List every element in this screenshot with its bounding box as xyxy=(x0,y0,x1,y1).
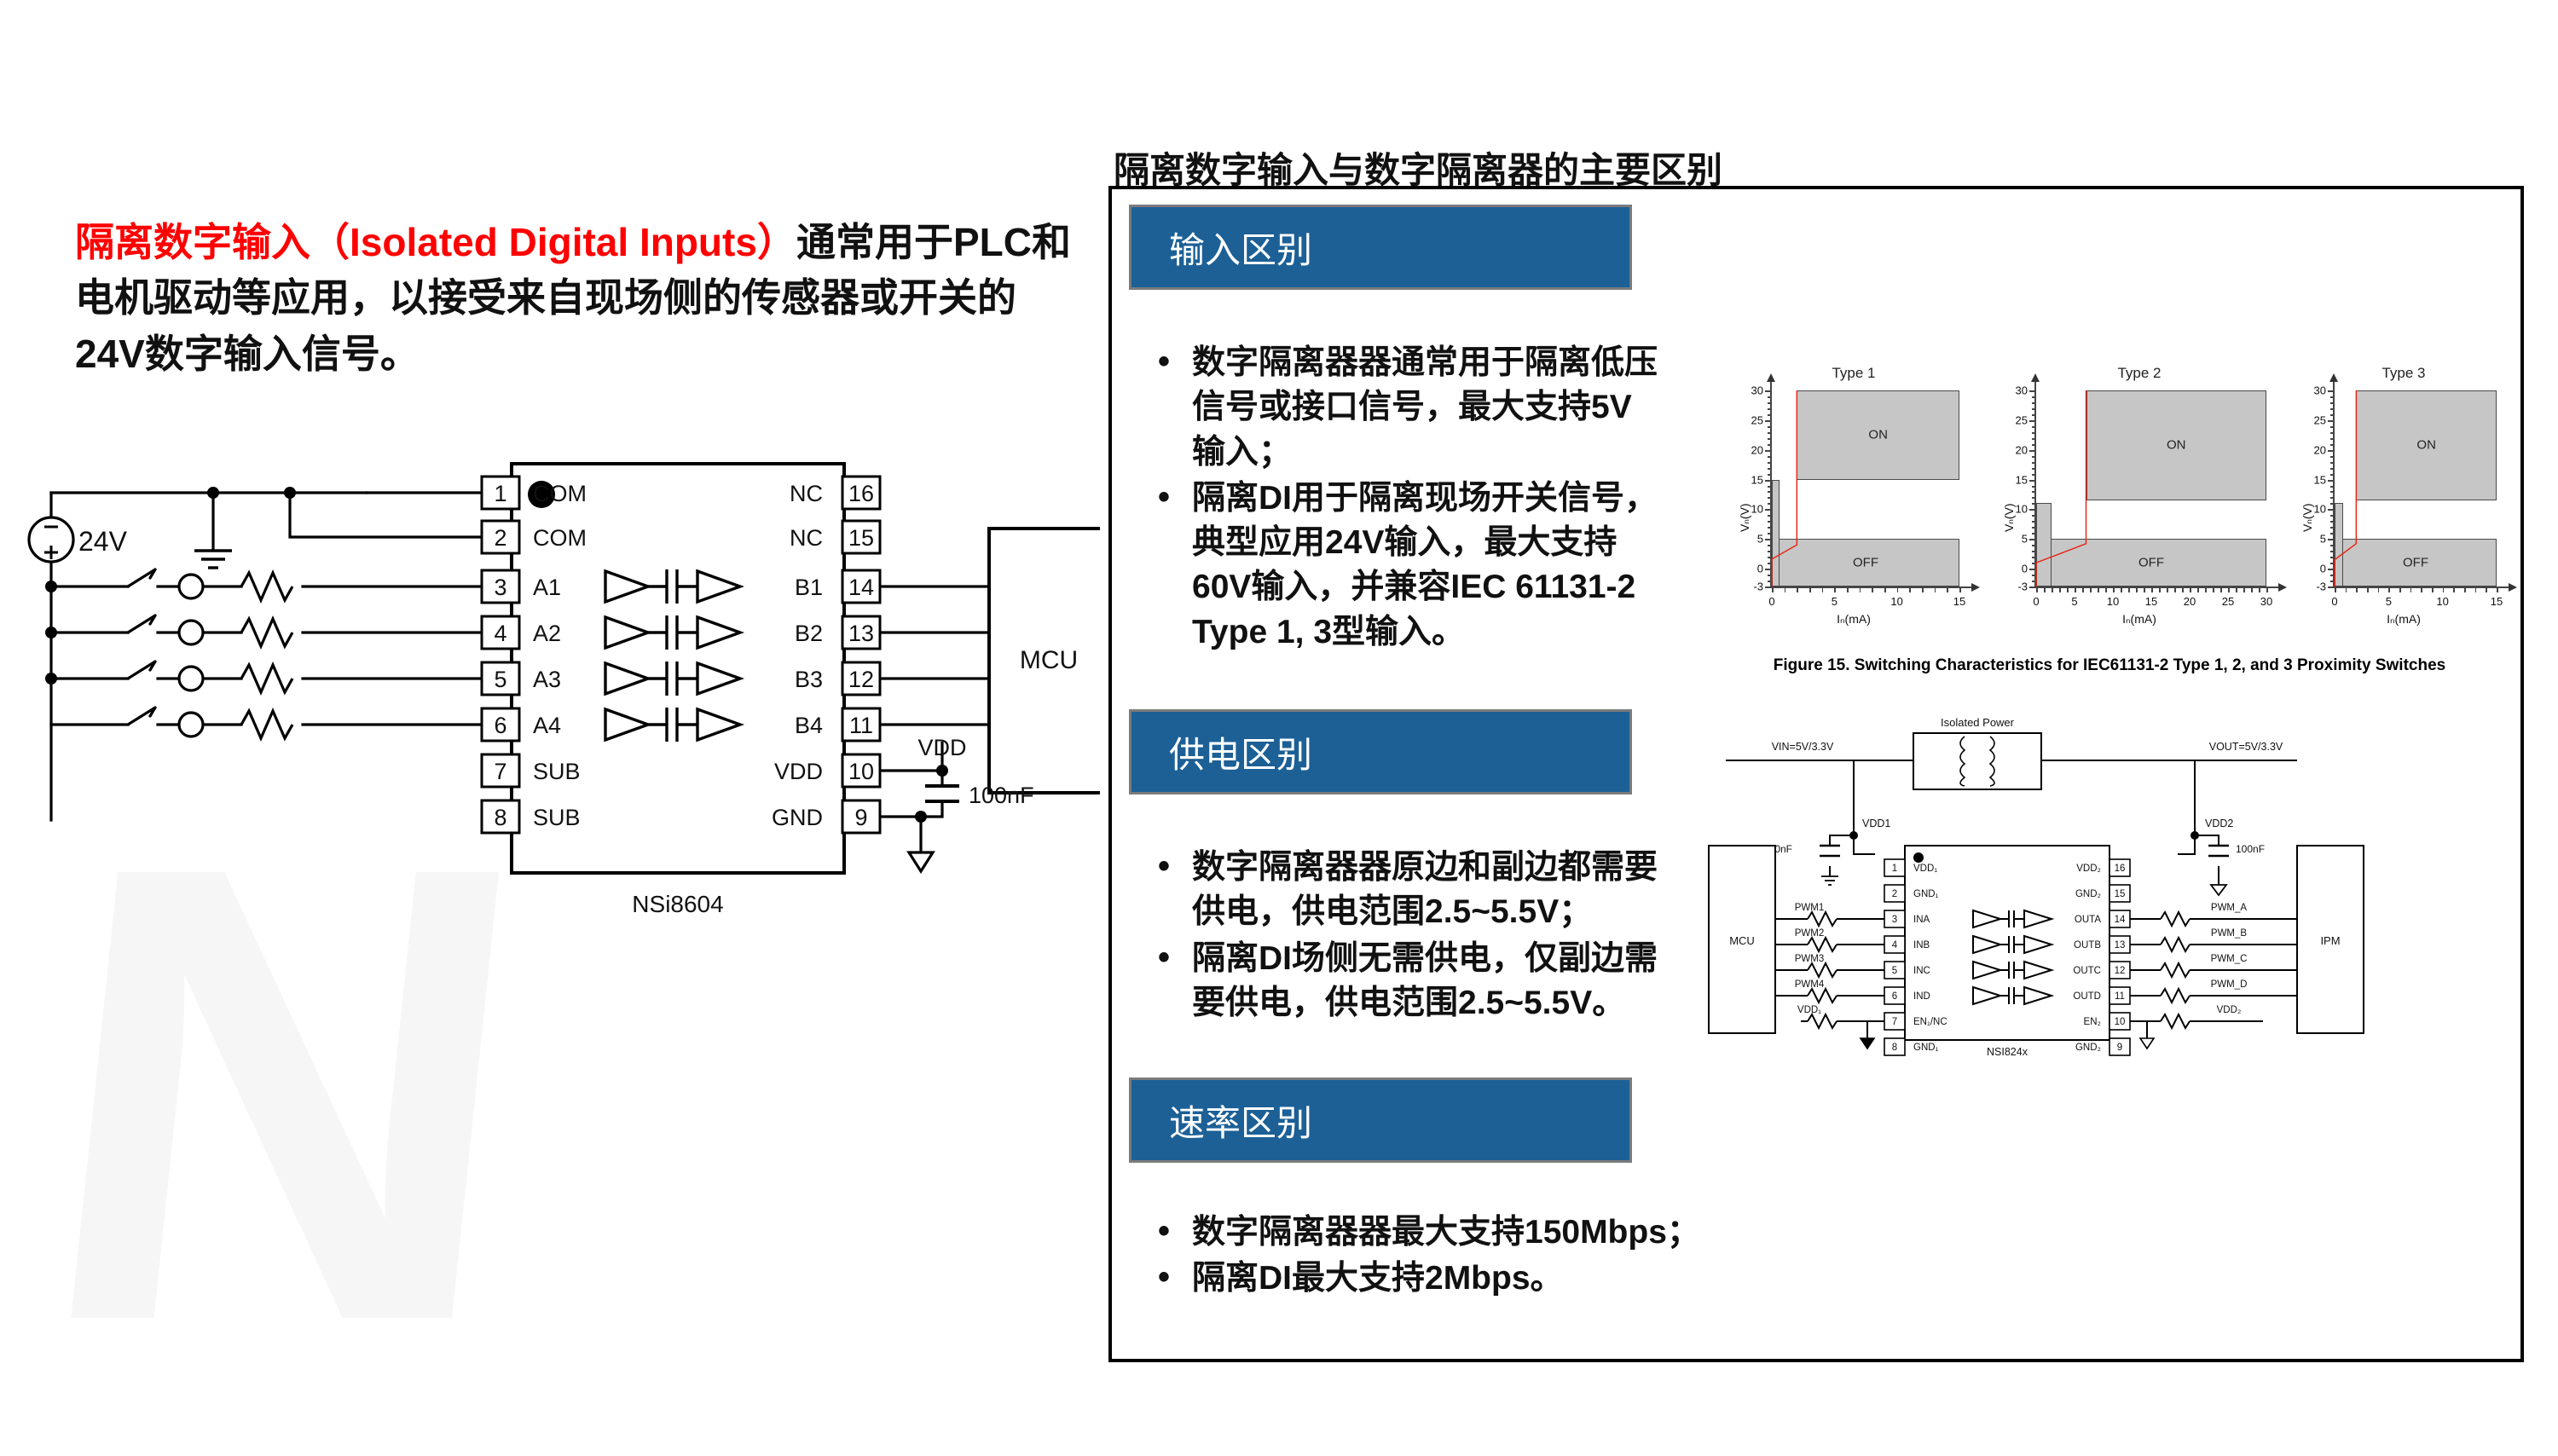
x-axis-label: Iₙ(mA) xyxy=(2297,612,2510,627)
ipm-label: IPM xyxy=(2320,934,2340,947)
x-minor-tick xyxy=(2443,586,2445,592)
pin-name: SUB xyxy=(533,759,581,784)
pin-number: 9 xyxy=(2117,1043,2122,1053)
y-minor-tick xyxy=(2032,414,2035,416)
resistor xyxy=(1808,1014,1837,1028)
resistor xyxy=(2161,989,2190,1002)
x-minor-tick xyxy=(1872,586,1873,592)
pin-number: 15 xyxy=(848,525,874,551)
x-minor-tick xyxy=(1959,586,1961,592)
pin-number: 7 xyxy=(1892,1017,1897,1027)
x-minor-tick xyxy=(1884,586,1886,592)
y-minor-tick xyxy=(2330,575,2334,576)
x-minor-tick xyxy=(1897,586,1899,592)
pin-number: 1 xyxy=(494,481,506,506)
x-minor-tick xyxy=(1809,586,1811,592)
y-minor-tick xyxy=(1768,462,1771,464)
x-minor-tick xyxy=(1922,586,1924,592)
figure-caption: Figure 15. Switching Characteristics for… xyxy=(1709,656,2510,675)
signal-label: PWM_A xyxy=(2211,903,2248,913)
resistor xyxy=(2161,938,2190,951)
y-minor-tick xyxy=(1768,468,1771,470)
y-tick-mark xyxy=(2328,420,2334,422)
y-tick-label: 5 xyxy=(1741,533,1763,546)
y-minor-tick xyxy=(2032,527,2035,529)
section-bullets-power: 数字隔离器器原边和副边都需要供电，供电范围2.5~5.5V； 隔离DI场侧无需供… xyxy=(1153,846,1664,1027)
signal-label: PWM4 xyxy=(1795,979,1825,990)
pin-name: OUTB xyxy=(2074,940,2101,950)
y-minor-tick xyxy=(1768,432,1771,434)
y-tick-mark xyxy=(2029,569,2035,570)
section-header-power: 供电区别 xyxy=(1129,709,1632,794)
pin-name: NC xyxy=(790,525,823,551)
x-minor-tick xyxy=(2197,586,2199,592)
y-minor-tick xyxy=(2330,515,2334,517)
x-tick-label: 5 xyxy=(2386,595,2392,608)
pin-number: 6 xyxy=(494,713,506,738)
y-minor-tick xyxy=(1768,575,1771,576)
pin-name: COM xyxy=(533,525,587,551)
x-tick-label: 15 xyxy=(2491,595,2503,608)
pin-name: INB xyxy=(1913,940,1930,950)
pin-number: 16 xyxy=(2115,864,2126,874)
y-minor-tick xyxy=(2330,408,2334,410)
y-minor-tick xyxy=(2032,551,2035,552)
y-tick-mark xyxy=(1765,390,1771,392)
y-minor-tick xyxy=(2330,557,2334,558)
x-minor-tick xyxy=(1822,586,1824,592)
pin-name: B3 xyxy=(795,667,823,692)
pin-name: A1 xyxy=(533,575,561,600)
y-minor-tick xyxy=(2330,486,2334,488)
y-minor-tick xyxy=(2032,432,2035,434)
resistor xyxy=(1808,912,1837,926)
x-minor-tick xyxy=(2236,586,2237,592)
iec61131-switching-charts: Type 1ONOFF-3051015202530051015Vₙ(V)Iₙ(m… xyxy=(1734,351,2493,658)
pin-name: OUTA xyxy=(2075,915,2101,925)
y-minor-tick xyxy=(1768,402,1771,404)
y-minor-tick xyxy=(2032,402,2035,404)
pin-number: 10 xyxy=(848,759,874,784)
y-tick-mark xyxy=(1765,420,1771,422)
x-axis-label: Iₙ(mA) xyxy=(1734,612,1973,627)
y-tick-label: 15 xyxy=(2005,473,2028,486)
resistor xyxy=(1808,963,1837,977)
y-tick-label: 20 xyxy=(1741,443,1763,456)
resistor xyxy=(2161,963,2190,977)
x-tick-label: 5 xyxy=(2071,595,2077,608)
y-minor-tick xyxy=(2330,474,2334,476)
chart-threshold-curve xyxy=(1734,368,1973,624)
y-tick-label: 20 xyxy=(2005,443,2028,456)
x-minor-tick xyxy=(2464,586,2466,592)
pin-name: VDD xyxy=(774,759,823,784)
y-minor-tick xyxy=(2330,527,2334,529)
x-minor-tick xyxy=(1834,586,1836,592)
signal-label: PWM3 xyxy=(1795,954,1825,964)
y-tick-label: 5 xyxy=(2304,533,2326,546)
x-minor-tick xyxy=(1947,586,1948,592)
y-tick-mark xyxy=(1765,480,1771,482)
y-minor-tick xyxy=(2330,468,2334,470)
y-minor-tick xyxy=(2330,414,2334,416)
y-tick-mark xyxy=(2029,586,2035,588)
pin-name: EN₁/NC xyxy=(1913,1017,1947,1027)
pin-name: COM xyxy=(533,481,587,506)
x-minor-tick xyxy=(2182,586,2184,592)
signal-label: PWM_C xyxy=(2211,954,2248,964)
vdd2-label: VDD2 xyxy=(2205,818,2233,829)
y-minor-tick xyxy=(2032,456,2035,458)
y-tick-label: 15 xyxy=(2304,473,2326,486)
y-minor-tick xyxy=(2330,444,2334,446)
cap-value-label: 100nF xyxy=(969,783,1034,808)
section-header-label: 速率区别 xyxy=(1169,1095,1312,1147)
x-tick-label: 15 xyxy=(2145,595,2157,608)
resistor xyxy=(1808,938,1837,951)
pin-number: 14 xyxy=(848,575,874,600)
y-minor-tick xyxy=(1768,527,1771,529)
y-minor-tick xyxy=(2330,491,2334,493)
y-minor-tick xyxy=(2032,438,2035,440)
pin-number: 5 xyxy=(494,667,506,692)
y-minor-tick xyxy=(2032,533,2035,534)
vin-label: VIN=5V/3.3V xyxy=(1772,741,1834,753)
y-minor-tick xyxy=(2032,575,2035,576)
y-minor-tick xyxy=(2032,503,2035,505)
y-minor-tick xyxy=(2032,468,2035,470)
pin-name: SUB xyxy=(533,805,581,830)
x-minor-tick xyxy=(2075,586,2076,592)
y-minor-tick xyxy=(2032,515,2035,517)
y-minor-tick xyxy=(2032,462,2035,464)
y-minor-tick xyxy=(1768,545,1771,546)
y-minor-tick xyxy=(1768,533,1771,534)
pin-name: A3 xyxy=(533,667,561,692)
y-minor-tick xyxy=(2330,503,2334,505)
resistor xyxy=(2161,1014,2190,1028)
y-minor-tick xyxy=(1768,414,1771,416)
y-tick-mark xyxy=(2328,390,2334,392)
y-minor-tick xyxy=(1768,521,1771,523)
resistor xyxy=(1808,989,1837,1002)
y-tick-label: 15 xyxy=(1741,473,1763,486)
pin-number: 15 xyxy=(2115,889,2126,899)
x-minor-tick xyxy=(2228,586,2230,592)
resistor xyxy=(2161,912,2190,926)
y-minor-tick xyxy=(2032,521,2035,523)
y-minor-tick xyxy=(2032,563,2035,564)
pin-name: GND₁ xyxy=(1913,889,1939,899)
pin-name: INA xyxy=(1913,915,1930,925)
y-axis-label: Vₙ(V) xyxy=(1738,503,1752,532)
y-tick-label: 5 xyxy=(2005,533,2028,546)
x-minor-tick xyxy=(2098,586,2099,592)
isolated-di-circuit-diagram: 24V xyxy=(0,452,1100,963)
y-tick-label: 0 xyxy=(2304,563,2326,575)
y-minor-tick xyxy=(1768,456,1771,458)
x-minor-tick xyxy=(2251,586,2253,592)
pin-number: 16 xyxy=(848,481,874,506)
x-tick-label: 10 xyxy=(2107,595,2119,608)
y-tick-label: -3 xyxy=(1741,581,1763,593)
pin-number: 2 xyxy=(1892,889,1897,899)
x-minor-tick xyxy=(2378,586,2380,592)
y-tick-mark xyxy=(2029,480,2035,482)
y-tick-label: 25 xyxy=(1741,413,1763,426)
x-minor-tick xyxy=(2367,586,2369,592)
x-minor-tick xyxy=(2067,586,2069,592)
x-minor-tick xyxy=(2453,586,2455,592)
y-minor-tick xyxy=(2330,402,2334,404)
y-minor-tick xyxy=(2330,396,2334,398)
y-minor-tick xyxy=(2330,551,2334,552)
x-minor-tick xyxy=(2090,586,2092,592)
y-tick-mark xyxy=(2029,509,2035,511)
x-minor-tick xyxy=(2052,586,2053,592)
y-minor-tick xyxy=(2330,545,2334,546)
y-minor-tick xyxy=(2032,491,2035,493)
pin-number: 5 xyxy=(1892,966,1897,976)
y-tick-label: 20 xyxy=(2304,443,2326,456)
y-minor-tick xyxy=(1768,426,1771,428)
chip-part-number: NSi8604 xyxy=(632,891,723,917)
y-minor-tick xyxy=(2032,557,2035,558)
x-tick-label: 30 xyxy=(2260,595,2272,608)
y-minor-tick xyxy=(1768,563,1771,564)
pin-number: 13 xyxy=(2115,940,2126,950)
x-minor-tick xyxy=(2128,586,2130,592)
x-minor-tick xyxy=(2151,586,2153,592)
y-minor-tick xyxy=(1768,503,1771,505)
pin-number: 8 xyxy=(1892,1043,1897,1053)
pin-number: 4 xyxy=(494,621,506,646)
pin-number: 8 xyxy=(494,805,506,830)
x-minor-tick xyxy=(1785,586,1786,592)
chart-type-1: Type 1ONOFF-3051015202530051015Vₙ(V)Iₙ(m… xyxy=(1734,368,1973,624)
left-column: 隔离数字输入（Isolated Digital Inputs）通常用于PLC和电… xyxy=(0,0,1100,1439)
pin-number: 12 xyxy=(2115,966,2126,976)
x-minor-tick xyxy=(2174,586,2176,592)
x-axis-label: Iₙ(mA) xyxy=(1999,612,2280,627)
pin-number: 1 xyxy=(1892,864,1897,874)
x-minor-tick xyxy=(2167,586,2168,592)
pin-name: B1 xyxy=(795,575,823,600)
chip2-part-number: NSI824x xyxy=(1987,1046,2028,1058)
cap2-label: 100nF xyxy=(2236,843,2265,855)
pin-name: GND₂ xyxy=(2075,1043,2101,1053)
chart-threshold-curve xyxy=(2297,368,2510,624)
x-minor-tick xyxy=(2346,586,2347,592)
signal-label: PWM2 xyxy=(1795,928,1825,939)
pin-number: 4 xyxy=(1892,940,1898,950)
x-minor-tick xyxy=(2136,586,2138,592)
right-panel: 输入区别 数字隔离器器通常用于隔离低压信号或接口信号，最大支持5V输入； 隔离D… xyxy=(1108,186,2524,1362)
pin-name: B4 xyxy=(795,713,823,738)
y-tick-mark xyxy=(1765,539,1771,540)
signal-label: PWM_B xyxy=(2211,928,2248,939)
vdd1-label: VDD1 xyxy=(1862,818,1890,829)
section-bullets-input: 数字隔离器器通常用于隔离低压信号或接口信号，最大支持5V输入； 隔离DI用于隔离… xyxy=(1153,341,1664,656)
y-minor-tick xyxy=(2032,426,2035,428)
x-minor-tick xyxy=(2113,586,2115,592)
y-minor-tick xyxy=(2032,545,2035,546)
y-tick-mark xyxy=(2029,450,2035,452)
bullet-item: 数字隔离器器原边和副边都需要供电，供电范围2.5~5.5V； xyxy=(1192,846,1664,935)
y-minor-tick xyxy=(1768,491,1771,493)
y-minor-tick xyxy=(2032,474,2035,476)
pin-name: GND₁ xyxy=(1913,1043,1939,1053)
x-minor-tick xyxy=(2243,586,2245,592)
y-minor-tick xyxy=(2330,462,2334,464)
x-minor-tick xyxy=(2144,586,2145,592)
y-tick-label: -3 xyxy=(2005,581,2028,593)
y-tick-mark xyxy=(2029,420,2035,422)
x-minor-tick xyxy=(2105,586,2107,592)
section-header-label: 输入区别 xyxy=(1169,222,1312,274)
y-minor-tick xyxy=(2330,438,2334,440)
y-tick-mark xyxy=(1765,509,1771,511)
y-axis-label: Vₙ(V) xyxy=(2300,503,2315,532)
y-minor-tick xyxy=(2032,408,2035,410)
x-minor-tick xyxy=(2266,586,2268,592)
y-tick-label: 30 xyxy=(1741,384,1763,397)
x-tick-label: 0 xyxy=(1768,595,1774,608)
x-minor-tick xyxy=(2213,586,2214,592)
intro-paragraph: 隔离数字输入（Isolated Digital Inputs）通常用于PLC和电… xyxy=(75,215,1081,382)
y-axis-label: Vₙ(V) xyxy=(2002,503,2017,532)
signal-label: VDD₁ xyxy=(1797,1005,1821,1015)
pin-number: 2 xyxy=(494,525,506,551)
x-minor-tick xyxy=(2220,586,2222,592)
pin-number: 10 xyxy=(2115,1017,2126,1027)
chart-threshold-curve xyxy=(1999,368,2280,624)
pin-number: 9 xyxy=(854,805,867,830)
x-minor-tick xyxy=(2335,586,2336,592)
y-minor-tick xyxy=(1768,486,1771,488)
x-tick-label: 10 xyxy=(2436,595,2448,608)
y-tick-mark xyxy=(2029,390,2035,392)
x-minor-tick xyxy=(1860,586,1861,592)
isolated-power-label: Isolated Power xyxy=(1941,716,2015,729)
pin-number: 7 xyxy=(494,759,506,784)
bullet-item: 隔离DI用于隔离现场开关信号，典型应用24V输入，最大支持60V输入，并兼容IE… xyxy=(1192,477,1664,655)
x-tick-label: 0 xyxy=(2331,595,2337,608)
x-tick-label: 15 xyxy=(1953,595,1965,608)
pin-name: NC xyxy=(790,481,823,506)
y-tick-mark xyxy=(2029,539,2035,540)
x-minor-tick xyxy=(2121,586,2122,592)
y-minor-tick xyxy=(2330,533,2334,534)
pin-number: 12 xyxy=(848,667,874,692)
chart-type-3: Type 3ONOFF-3051015202530051015Vₙ(V)Iₙ(m… xyxy=(2297,368,2510,624)
bullet-item: 隔离DI场侧无需供电，仅副边需要供电，供电范围2.5~5.5V。 xyxy=(1192,937,1664,1026)
y-minor-tick xyxy=(1768,474,1771,476)
signal-label: PWM_D xyxy=(2211,979,2248,990)
x-tick-label: 0 xyxy=(2033,595,2039,608)
section-header-speed: 速率区别 xyxy=(1129,1078,1632,1163)
section-bullets-speed: 数字隔离器器最大支持150Mbps； 隔离DI最大支持2Mbps。 xyxy=(1153,1210,1767,1303)
y-minor-tick xyxy=(1768,515,1771,517)
y-tick-mark xyxy=(1765,450,1771,452)
x-minor-tick xyxy=(2356,586,2358,592)
y-minor-tick xyxy=(2032,396,2035,398)
pin-name: INC xyxy=(1913,966,1930,976)
x-minor-tick xyxy=(2475,586,2477,592)
y-tick-mark xyxy=(2328,509,2334,511)
x-minor-tick xyxy=(1797,586,1798,592)
y-minor-tick xyxy=(1768,581,1771,582)
y-minor-tick xyxy=(2330,497,2334,499)
x-minor-tick xyxy=(2399,586,2401,592)
vout-label: VOUT=5V/3.3V xyxy=(2209,741,2283,753)
y-minor-tick xyxy=(1768,557,1771,558)
x-minor-tick xyxy=(2410,586,2412,592)
vdd-label: VDD xyxy=(917,735,966,760)
pin-name: GND₂ xyxy=(2075,889,2101,899)
pin-name: GND xyxy=(772,805,823,830)
y-minor-tick xyxy=(2330,581,2334,582)
pin-number: 11 xyxy=(2115,991,2125,1002)
x-minor-tick xyxy=(1847,586,1849,592)
y-tick-mark xyxy=(2328,586,2334,588)
x-tick-label: 20 xyxy=(2184,595,2196,608)
y-minor-tick xyxy=(1768,497,1771,499)
pin-name: OUTC xyxy=(2073,966,2101,976)
y-tick-label: 0 xyxy=(1741,563,1763,575)
y-minor-tick xyxy=(1768,444,1771,446)
source-voltage-label: 24V xyxy=(78,526,128,557)
y-tick-mark xyxy=(1765,586,1771,588)
x-minor-tick xyxy=(2044,586,2046,592)
signal-label: PWM1 xyxy=(1795,903,1825,913)
y-tick-mark xyxy=(1765,569,1771,570)
pin-name: IND xyxy=(1913,991,1930,1002)
pin-number: 11 xyxy=(849,713,873,738)
chart-type-2: Type 2ONOFF-3051015202530051015202530Vₙ(… xyxy=(1999,368,2280,624)
mcu-label: MCU xyxy=(1020,646,1078,674)
y-minor-tick xyxy=(2330,563,2334,564)
y-minor-tick xyxy=(1768,551,1771,552)
pin-number: 6 xyxy=(1892,991,1897,1002)
x-minor-tick xyxy=(2159,586,2161,592)
x-minor-tick xyxy=(2205,586,2207,592)
isolated-power-circuit-diagram: Isolated Power VIN=5V/3.3V VOUT=5V/3.3V xyxy=(1700,709,2502,1076)
x-minor-tick xyxy=(1935,586,1936,592)
x-minor-tick xyxy=(2036,586,2038,592)
y-tick-label: 25 xyxy=(2005,413,2028,426)
pin-name: B2 xyxy=(795,621,823,646)
y-minor-tick xyxy=(2032,581,2035,582)
y-tick-mark xyxy=(2328,539,2334,540)
pin-name: VDD₁ xyxy=(1913,864,1937,874)
y-minor-tick xyxy=(2330,521,2334,523)
x-minor-tick xyxy=(2486,586,2487,592)
pin-number: 3 xyxy=(1892,915,1897,925)
bullet-item: 隔离DI最大支持2Mbps。 xyxy=(1192,1257,1767,1301)
y-minor-tick xyxy=(2330,426,2334,428)
pin-name: VDD₂ xyxy=(2076,864,2101,874)
x-minor-tick xyxy=(1909,586,1911,592)
x-minor-tick xyxy=(2421,586,2422,592)
y-minor-tick xyxy=(2032,444,2035,446)
y-tick-label: 30 xyxy=(2304,384,2326,397)
pin-name: OUTD xyxy=(2073,991,2101,1002)
x-minor-tick xyxy=(2388,586,2390,592)
x-tick-label: 25 xyxy=(2222,595,2234,608)
x-tick-label: 5 xyxy=(1832,595,1837,608)
pin-number: 14 xyxy=(2115,915,2126,925)
